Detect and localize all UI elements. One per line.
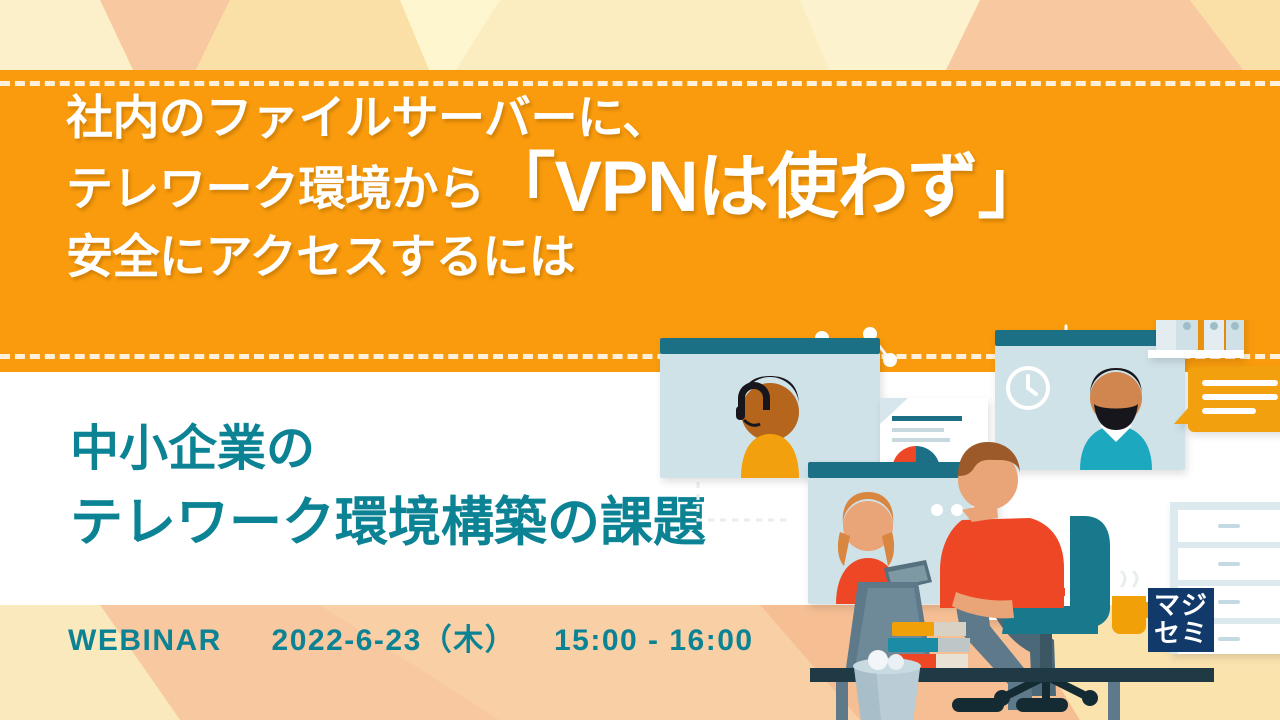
- poster-canvas: 社内のファイルサーバーに、 テレワーク環境から「VPNは使わず」 安全にアクセス…: [0, 0, 1280, 720]
- headline-line-2-prefix: テレワーク環境から: [66, 162, 485, 215]
- waste-basket: [853, 650, 921, 720]
- illustration-svg: [640, 320, 1280, 720]
- speech-bubble: [1174, 366, 1280, 432]
- webinar-label: WEBINAR: [68, 624, 222, 657]
- headline-line-3: 安全にアクセスするには: [66, 233, 1246, 280]
- binder-shelf: [1148, 320, 1244, 358]
- video-window-woman-headset: [660, 338, 880, 478]
- telework-illustration: [640, 320, 1280, 720]
- headline-line-1: 社内のファイルサーバーに、: [66, 94, 1246, 141]
- logo-line-2: セミ: [1154, 621, 1208, 647]
- headline-text: 社内のファイルサーバーに、 テレワーク環境から「VPNは使わず」 安全にアクセス…: [66, 94, 1246, 280]
- logo-line-1: マジ: [1154, 593, 1208, 619]
- majisemi-logo[interactable]: マジ セミ: [1148, 588, 1214, 652]
- webinar-date: 2022-6-23（木）: [272, 624, 517, 657]
- headline-line-2: テレワーク環境から「VPNは使わず」: [66, 152, 1246, 223]
- banner-dashed-line-top: [0, 81, 1280, 86]
- headline-emphasis: 「VPNは使わず」: [485, 148, 1048, 227]
